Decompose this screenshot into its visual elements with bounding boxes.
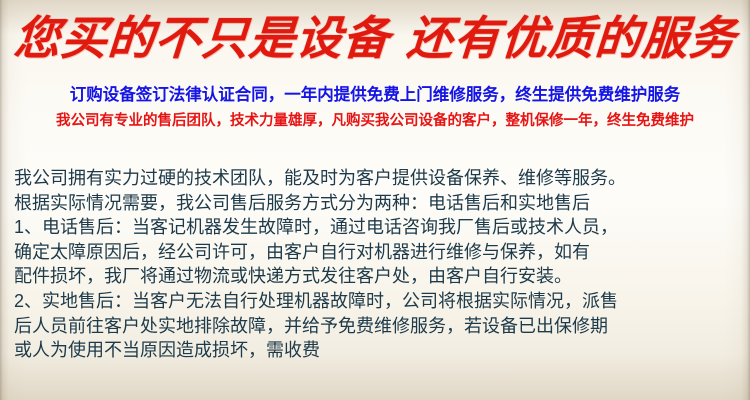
poster-subheadline-warranty: 我公司有专业的售后团队，技术力量雄厚，凡购买我公司设备的客户，整机保修一年，终生… [0, 110, 750, 132]
body-line: 我公司拥有实力过硬的技术团队，能及时为客户提供设备保养、维修等服务。 [14, 166, 740, 191]
poster-headline: 您买的不只是设备 还有优质的服务 [0, 8, 750, 68]
body-line: 1、电话售后：当客记机器发生故障时，通过电话咨询我厂售后或技术人员， [14, 215, 740, 240]
service-description-body: 我公司拥有实力过硬的技术团队，能及时为客户提供设备保养、维修等服务。 根据实际情… [14, 166, 740, 363]
body-line: 根据实际情况需要，我公司售后服务方式分为两种：电话售后和实地售后 [14, 191, 740, 216]
poster-subheadline-contract: 订购设备签订法律认证合同，一年内提供免费上门维修服务，终生提供免费维护服务 [0, 83, 750, 107]
poster-content: 您买的不只是设备 还有优质的服务 订购设备签订法律认证合同，一年内提供免费上门维… [0, 0, 750, 400]
body-line: 或人为使用不当原因造成损坏，需收费 [14, 338, 740, 363]
body-line: 确定太障原因后，经公司许可，由客户自行对机器进行维修与保养，如有 [14, 240, 740, 265]
body-line: 配件损坏，我厂将通过物流或快递方式发往客户处，由客户自行安装。 [14, 264, 740, 289]
service-promise-poster: 您买的不只是设备 还有优质的服务 订购设备签订法律认证合同，一年内提供免费上门维… [0, 0, 750, 400]
body-line: 2、实地售后：当客户无法自行处理机器故障时，公司将根据实际情况，派售 [14, 289, 740, 314]
body-line: 后人员前往客户处实地排除故障，并给予免费维修服务，若设备已出保修期 [14, 314, 740, 339]
